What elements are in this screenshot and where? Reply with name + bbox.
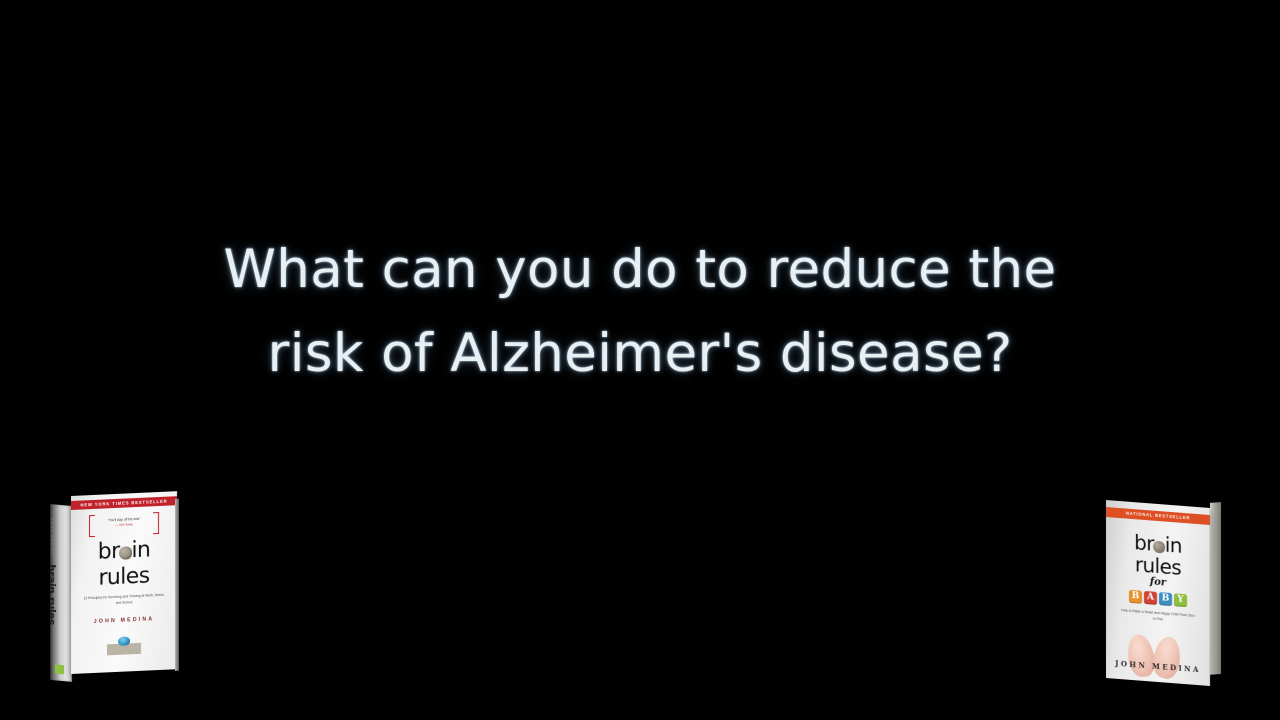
bracket-right-icon — [153, 512, 159, 534]
book-title-suffix: in — [131, 537, 150, 563]
bestseller-banner: NEW YORK TIMES BESTSELLER — [71, 496, 177, 510]
bracket-left-icon — [89, 515, 95, 537]
book-front-cover: NEW YORK TIMES BESTSELLER “You'll slap o… — [71, 491, 177, 674]
baby-foot-left — [1125, 634, 1157, 678]
publisher-logo-icon — [55, 664, 64, 674]
brain-rules-book: JOHN MEDINA brain rules NEW YORK TIMES B… — [50, 496, 180, 680]
presentation-slide: What can you do to reduce the risk of Al… — [0, 0, 1280, 720]
book-front-cover: NATIONAL BESTSELLER brin rules for BABY … — [1106, 500, 1210, 686]
book-title-line-1: brin — [71, 536, 177, 566]
baby-block-b-2: B — [1159, 592, 1172, 606]
book-spine: JOHN MEDINA brain rules — [50, 504, 72, 682]
book-author: JOHN MEDINA — [71, 615, 177, 626]
baby-letter-blocks: BABY — [1106, 588, 1210, 609]
brain-rules-for-baby-book: NATIONAL BESTSELLER brin rules for BABY … — [1106, 500, 1221, 680]
baby-block-y-3: Y — [1174, 593, 1187, 607]
baby-foot-right — [1151, 634, 1183, 681]
book-page-edge — [175, 499, 179, 671]
book-subtitle: How to Raise a Smart and Happy Child Fro… — [1120, 607, 1196, 625]
book-title-line-2: rules — [71, 562, 177, 592]
book-title-prefix: br — [98, 539, 120, 565]
book-page-edge — [1210, 502, 1221, 675]
slide-title-line-1: What can you do to reduce the — [0, 228, 1280, 312]
baby-block-a-1: A — [1144, 591, 1157, 605]
slide-title-line-2: risk of Alzheimer's disease? — [0, 312, 1280, 396]
brain-graphic-icon — [1153, 541, 1165, 554]
bestseller-banner: NATIONAL BESTSELLER — [1106, 507, 1210, 525]
baby-block-b-0: B — [1129, 590, 1142, 604]
slide-title: What can you do to reduce the risk of Al… — [0, 228, 1280, 396]
book-subtitle: 12 Principles for Surviving and Thriving… — [83, 592, 165, 608]
cover-quote-block: “You'll slap off the side” — USA Today — [89, 512, 159, 529]
